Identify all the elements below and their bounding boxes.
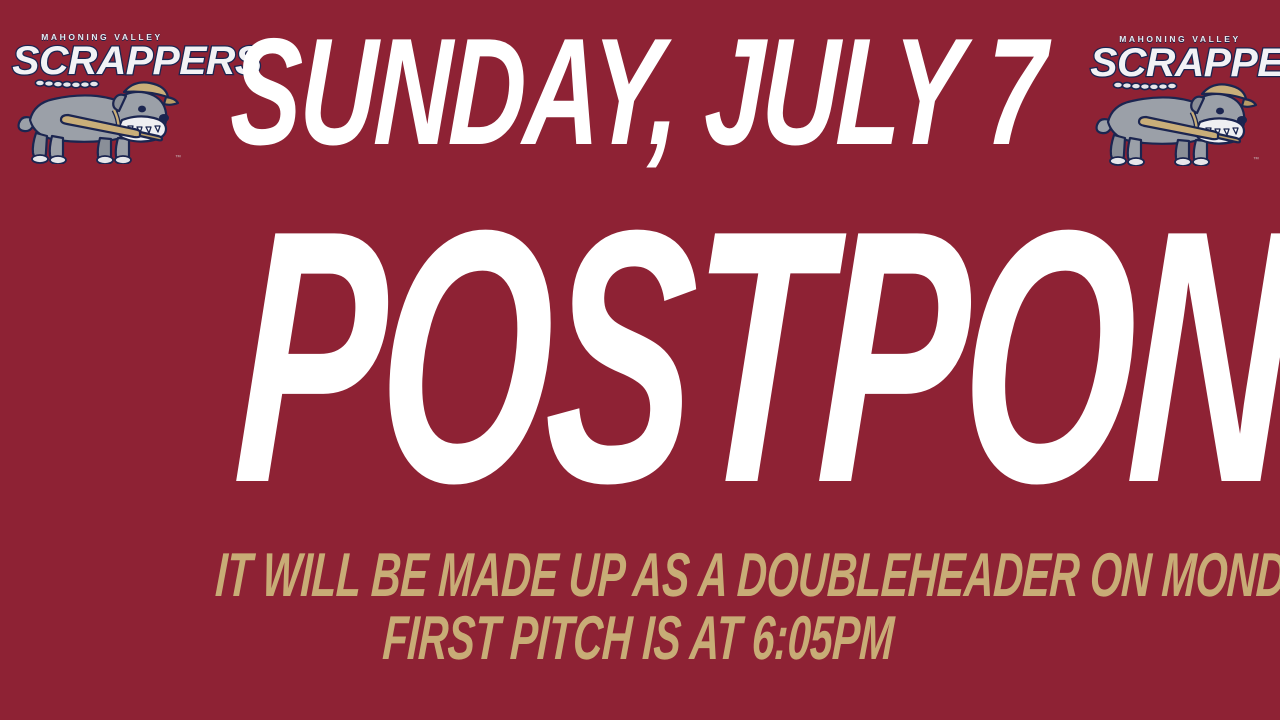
announcement-graphic: MAHONING VALLEY SCRAPPERS	[0, 0, 1280, 720]
game-date-headline: SUNDAY, JULY 7	[186, 16, 1088, 168]
makeup-detail-line-2: FIRST PITCH IS AT 6:05PM	[214, 608, 1062, 670]
status-postponed: POSTPONED	[231, 192, 1037, 522]
makeup-detail-line-1: IT WILL BE MADE UP AS A DOUBLEHEADER ON …	[214, 545, 1062, 607]
bulldog-mascot-icon	[1092, 70, 1268, 166]
bulldog-mascot-icon	[14, 68, 190, 164]
team-logo-left: MAHONING VALLEY SCRAPPERS	[14, 30, 190, 165]
logo-trademark: ™	[175, 155, 181, 161]
team-logo-right: MAHONING VALLEY SCRAPPERS	[1092, 32, 1268, 167]
